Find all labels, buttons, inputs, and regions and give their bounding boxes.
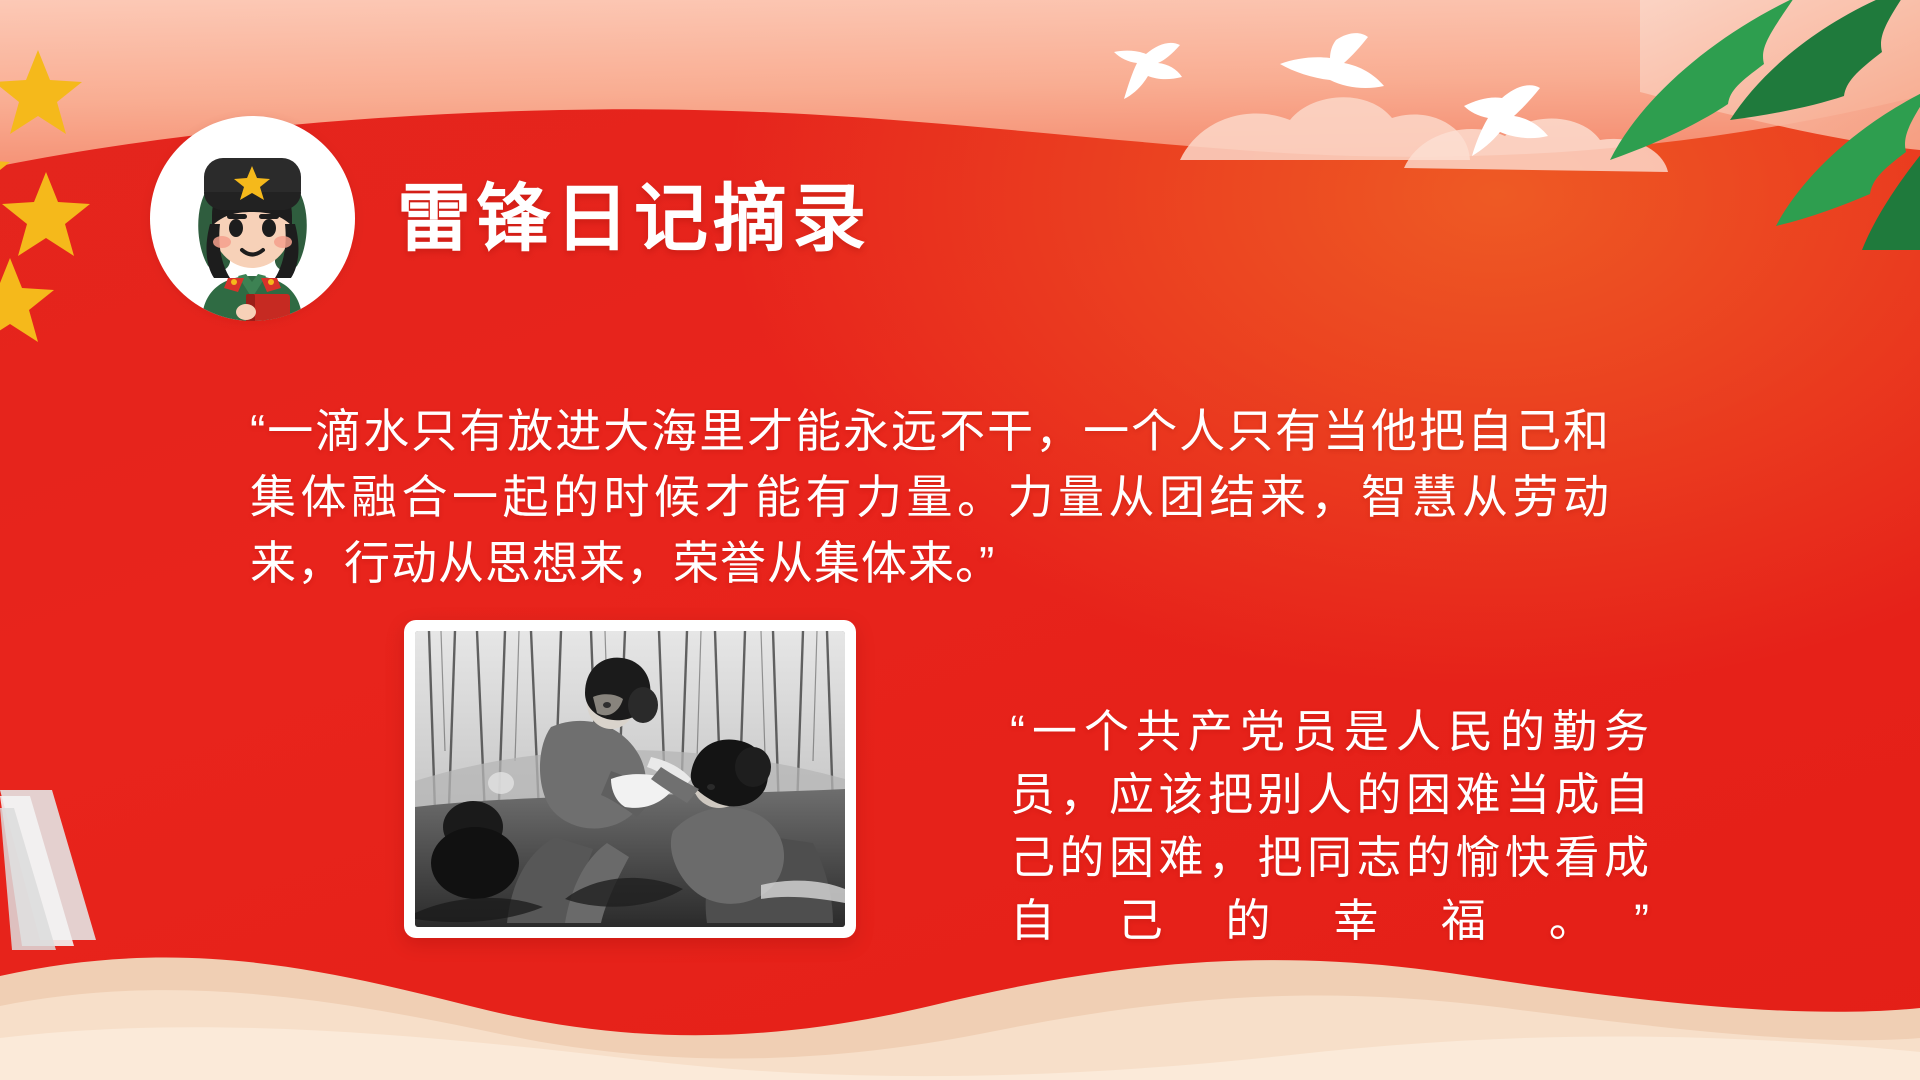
leaf-icon	[1610, 0, 1920, 250]
green-leaves-decoration	[1580, 0, 1920, 250]
lei-feng-historical-photo	[415, 631, 845, 927]
lei-feng-soldier-avatar-icon	[150, 116, 355, 321]
slide-root: 雷锋日记摘录 “一滴水只有放进大海里才能永远不干，一个人只有当他把自己和集体融合…	[0, 0, 1920, 1080]
quote-two-text: “一个共产党员是人民的勤务员，应该把别人的困难当成自己的困难，把同志的愉快看成自…	[1010, 700, 1650, 1015]
photo-frame	[404, 620, 856, 938]
quote-one-text: “一滴水只有放进大海里才能永远不干，一个人只有当他把自己和集体融合一起的时候才能…	[250, 398, 1610, 596]
star-icon	[0, 50, 90, 342]
header: 雷锋日记摘录	[150, 116, 871, 321]
page-title: 雷锋日记摘录	[397, 182, 871, 256]
gold-stars-decoration	[0, 50, 150, 350]
avatar	[150, 116, 355, 321]
